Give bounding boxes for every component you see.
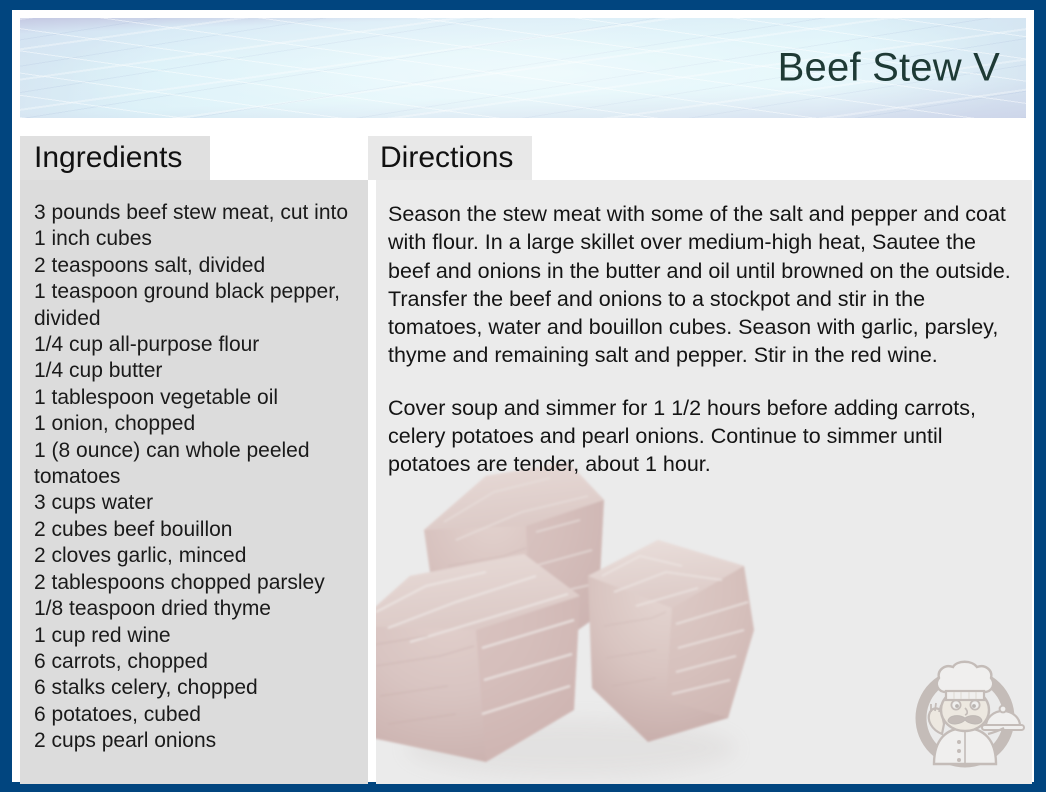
ingredient-item: 1/4 cup butter <box>34 358 358 384</box>
ingredient-item: 6 stalks celery, chopped <box>34 675 358 701</box>
slide-page: Beef Stew V Ingredients Directions 3 pou… <box>12 10 1034 782</box>
ingredient-item: 2 cloves garlic, minced <box>34 543 358 569</box>
recipe-title: Beef Stew V <box>778 46 1000 91</box>
ingredient-item: 1 teaspoon ground black pepper, divided <box>34 279 358 332</box>
ingredient-item: 1/4 cup all-purpose flour <box>34 332 358 358</box>
ingredient-item: 1 tablespoon vegetable oil <box>34 385 358 411</box>
ingredient-item: 1/8 teaspoon dried thyme <box>34 596 358 622</box>
directions-text: Season the stew meat with some of the sa… <box>388 200 1018 479</box>
ingredient-item: 3 pounds beef stew meat, cut into 1 inch… <box>34 200 358 253</box>
directions-header-tab: Directions <box>368 136 532 180</box>
ingredient-item: 1 cup red wine <box>34 623 358 649</box>
ingredients-header-tab: Ingredients <box>20 136 210 180</box>
ingredient-item: 6 carrots, chopped <box>34 649 358 675</box>
ingredient-item: 2 cups pearl onions <box>34 728 358 754</box>
ingredients-panel: 3 pounds beef stew meat, cut into 1 inch… <box>20 180 368 784</box>
directions-paragraph: Cover soup and simmer for 1 1/2 hours be… <box>388 394 1018 479</box>
ingredient-item: 1 (8 ounce) can whole peeled tomatoes <box>34 438 358 491</box>
ingredients-list: 3 pounds beef stew meat, cut into 1 inch… <box>34 200 358 755</box>
directions-paragraph: Season the stew meat with some of the sa… <box>388 200 1018 370</box>
ingredient-item: 3 cups water <box>34 490 358 516</box>
directions-panel: Season the stew meat with some of the sa… <box>376 180 1032 784</box>
ingredients-header-label: Ingredients <box>34 143 182 173</box>
title-banner: Beef Stew V <box>20 18 1026 118</box>
ingredient-item: 2 tablespoons chopped parsley <box>34 570 358 596</box>
ingredient-item: 2 cubes beef bouillon <box>34 517 358 543</box>
ingredient-item: 6 potatoes, cubed <box>34 702 358 728</box>
ingredient-item: 1 onion, chopped <box>34 411 358 437</box>
slide-frame: Beef Stew V Ingredients Directions 3 pou… <box>0 0 1046 792</box>
directions-header-label: Directions <box>380 143 513 173</box>
ingredient-item: 2 teaspoons salt, divided <box>34 253 358 279</box>
